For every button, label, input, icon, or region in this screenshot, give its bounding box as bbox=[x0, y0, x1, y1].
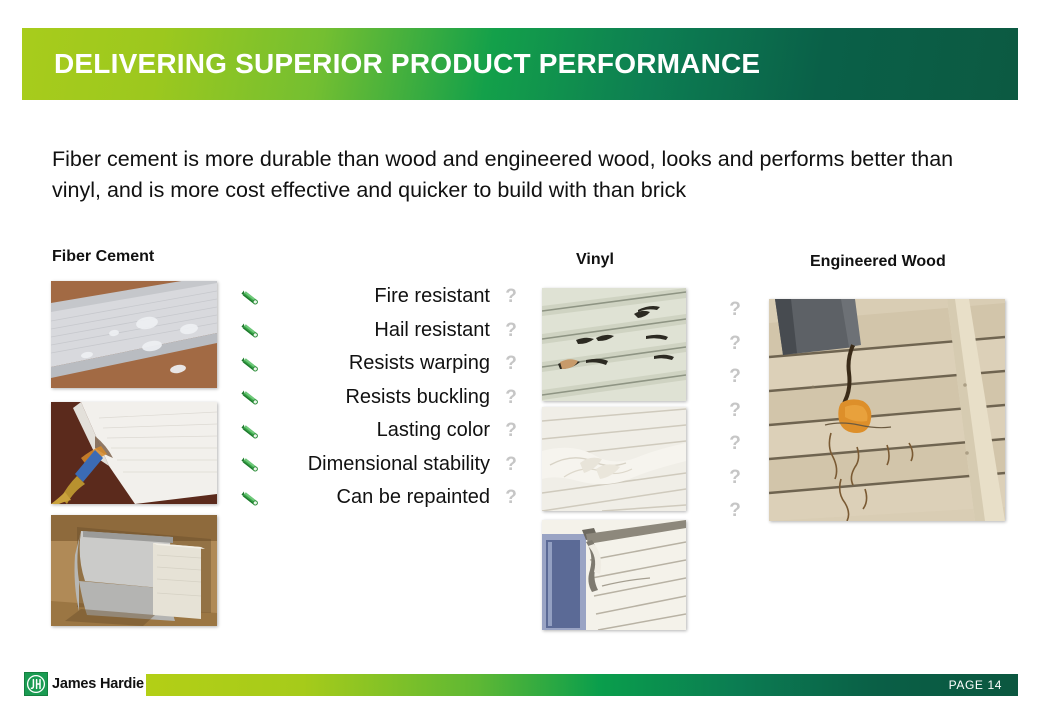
question-mark: ? bbox=[727, 327, 743, 361]
feature-label: Hail resistant bbox=[234, 319, 496, 342]
question-mark: ? bbox=[727, 293, 743, 327]
question-mark: ? bbox=[503, 314, 519, 348]
question-mark: ? bbox=[727, 360, 743, 394]
fiber-cement-plank-comparison-photo bbox=[51, 515, 217, 626]
jh-monogram-icon bbox=[24, 672, 48, 696]
column-heading-vinyl: Vinyl bbox=[576, 251, 614, 269]
header-banner: DELIVERING SUPERIOR PRODUCT PERFORMANCE bbox=[22, 28, 1018, 100]
vinyl-hail-damage-photo bbox=[542, 288, 686, 401]
question-mark: ? bbox=[727, 494, 743, 528]
feature-label: Dimensional stability bbox=[234, 453, 496, 476]
feature-label: Fire resistant bbox=[234, 285, 496, 308]
feature-row: Can be repainted bbox=[234, 481, 496, 515]
question-mark: ? bbox=[503, 280, 519, 314]
feature-row: Lasting color bbox=[234, 414, 496, 448]
question-mark: ? bbox=[503, 448, 519, 482]
engineered-wood-cracking-photo bbox=[769, 299, 1005, 521]
question-mark: ? bbox=[503, 347, 519, 381]
fiber-cement-water-beading-photo bbox=[51, 281, 217, 388]
vinyl-melted-photo bbox=[542, 407, 686, 511]
feature-list: Fire resistant Hail resistant bbox=[234, 280, 496, 515]
column-heading-engineered-wood: Engineered Wood bbox=[810, 253, 946, 271]
fiber-cement-torch-photo bbox=[51, 402, 217, 504]
question-mark: ? bbox=[503, 414, 519, 448]
feature-label: Resists buckling bbox=[234, 386, 496, 409]
question-mark: ? bbox=[503, 481, 519, 515]
column-heading-fiber-cement: Fiber Cement bbox=[52, 248, 154, 266]
green-pencil-bullet-icon bbox=[238, 454, 260, 474]
green-pencil-bullet-icon bbox=[238, 287, 260, 307]
footer-gradient-bar: PAGE 14 bbox=[146, 674, 1018, 696]
vinyl-buckling-photo bbox=[542, 520, 686, 630]
green-pencil-bullet-icon bbox=[238, 387, 260, 407]
feature-label: Resists warping bbox=[234, 352, 496, 375]
green-pencil-bullet-icon bbox=[238, 320, 260, 340]
question-mark: ? bbox=[727, 461, 743, 495]
green-pencil-bullet-icon bbox=[238, 488, 260, 508]
question-mark-column-engineered-wood: ? ? ? ? ? ? ? bbox=[727, 293, 743, 528]
question-mark: ? bbox=[503, 381, 519, 415]
feature-row: Fire resistant bbox=[234, 280, 496, 314]
brand-wordmark: James Hardie bbox=[52, 676, 144, 692]
intro-paragraph: Fiber cement is more durable than wood a… bbox=[52, 144, 972, 206]
james-hardie-logo: James Hardie bbox=[24, 672, 144, 696]
page-title: DELIVERING SUPERIOR PRODUCT PERFORMANCE bbox=[54, 48, 760, 80]
page-number-label: PAGE 14 bbox=[949, 678, 1002, 692]
feature-label: Lasting color bbox=[234, 419, 496, 442]
question-mark-column-vinyl: ? ? ? ? ? ? ? bbox=[503, 280, 519, 515]
question-mark: ? bbox=[727, 427, 743, 461]
feature-row: Resists buckling bbox=[234, 381, 496, 415]
feature-row: Hail resistant bbox=[234, 314, 496, 348]
green-pencil-bullet-icon bbox=[238, 421, 260, 441]
green-pencil-bullet-icon bbox=[238, 354, 260, 374]
question-mark: ? bbox=[727, 394, 743, 428]
feature-row: Resists warping bbox=[234, 347, 496, 381]
feature-row: Dimensional stability bbox=[234, 448, 496, 482]
feature-label: Can be repainted bbox=[234, 486, 496, 509]
